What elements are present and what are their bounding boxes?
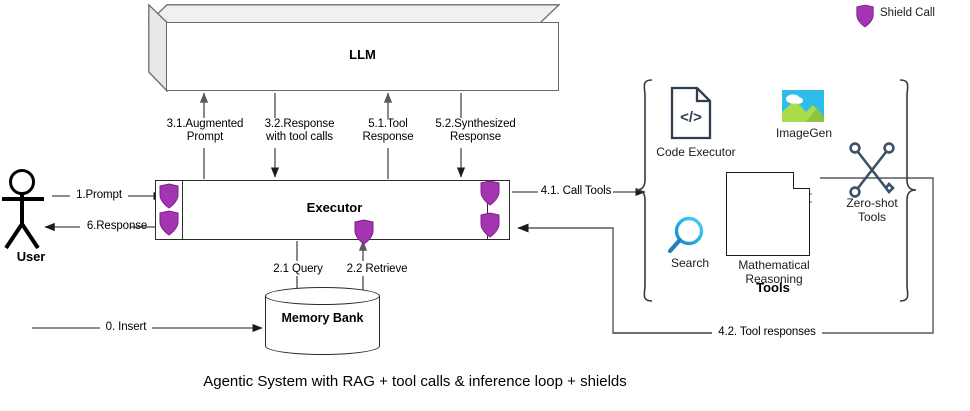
crossed-wrenches-icon-svg [851,144,894,197]
image-icon-svg [782,90,824,122]
magnifier-icon-svg [670,219,702,252]
edge-label-prompt: 1.Prompt [66,189,132,202]
diagram-canvas: </> LLM [0,0,970,411]
shield-icon [855,4,875,28]
legend-shield-label: Shield Call [880,7,935,19]
svg-text:</>: </> [680,109,702,126]
tools-group-label: Tools [718,280,828,295]
executor-label: Executor [182,200,487,215]
diagram-caption: Agentic System with RAG + tool calls & i… [0,373,830,390]
math-document-icon [726,172,810,256]
user-figure-svg [2,171,44,249]
edge-label-retrieve: 2.2 Retrieve [334,263,420,276]
shield-icon [353,219,375,245]
tool-label-code-executor: Code Executor [650,145,742,159]
edge-label-call-tools: 4.1. Call Tools [534,185,618,198]
memory-bank-label: Memory Bank [265,311,380,325]
edge-label-tool-responses: 4.2. Tool responses [712,326,822,339]
code-document-icon-svg: </> [672,88,710,138]
tool-label-zero-shot-tools: Zero-shot Tools [838,196,906,224]
tool-label-search: Search [662,256,718,270]
user-label: User [2,250,60,263]
edge-label-response: 6.Response [76,220,158,233]
shield-icon [479,180,501,206]
memory-bank-node: Memory Bank [265,287,380,355]
edge-label-insert: 0. Insert [96,321,156,334]
edge-label-synthesized-response: 5.2.Synthesized Response [408,118,543,144]
edge-label-query: 2.1 Query [262,263,334,276]
llm-node: LLM [148,4,560,92]
tool-label-imagegen: ImageGen [772,126,836,140]
memory-bank-top [265,287,380,305]
shield-icon [158,183,180,209]
llm-top-face [148,4,560,24]
shield-icon [479,212,501,238]
llm-side-face [148,4,168,92]
llm-label: LLM [166,47,559,62]
shield-icon [158,210,180,236]
